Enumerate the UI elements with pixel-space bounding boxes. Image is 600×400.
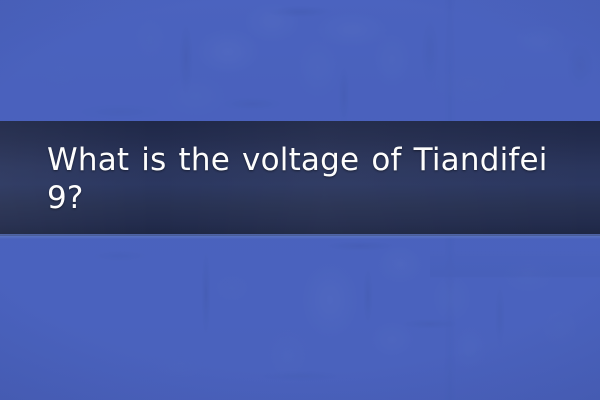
- caption-banner-underline: [0, 234, 600, 239]
- slide-root: What is the voltage of Tiandifei 9?: [0, 0, 600, 400]
- caption-banner: What is the voltage of Tiandifei 9?: [0, 121, 600, 236]
- caption-text: What is the voltage of Tiandifei 9?: [0, 141, 600, 217]
